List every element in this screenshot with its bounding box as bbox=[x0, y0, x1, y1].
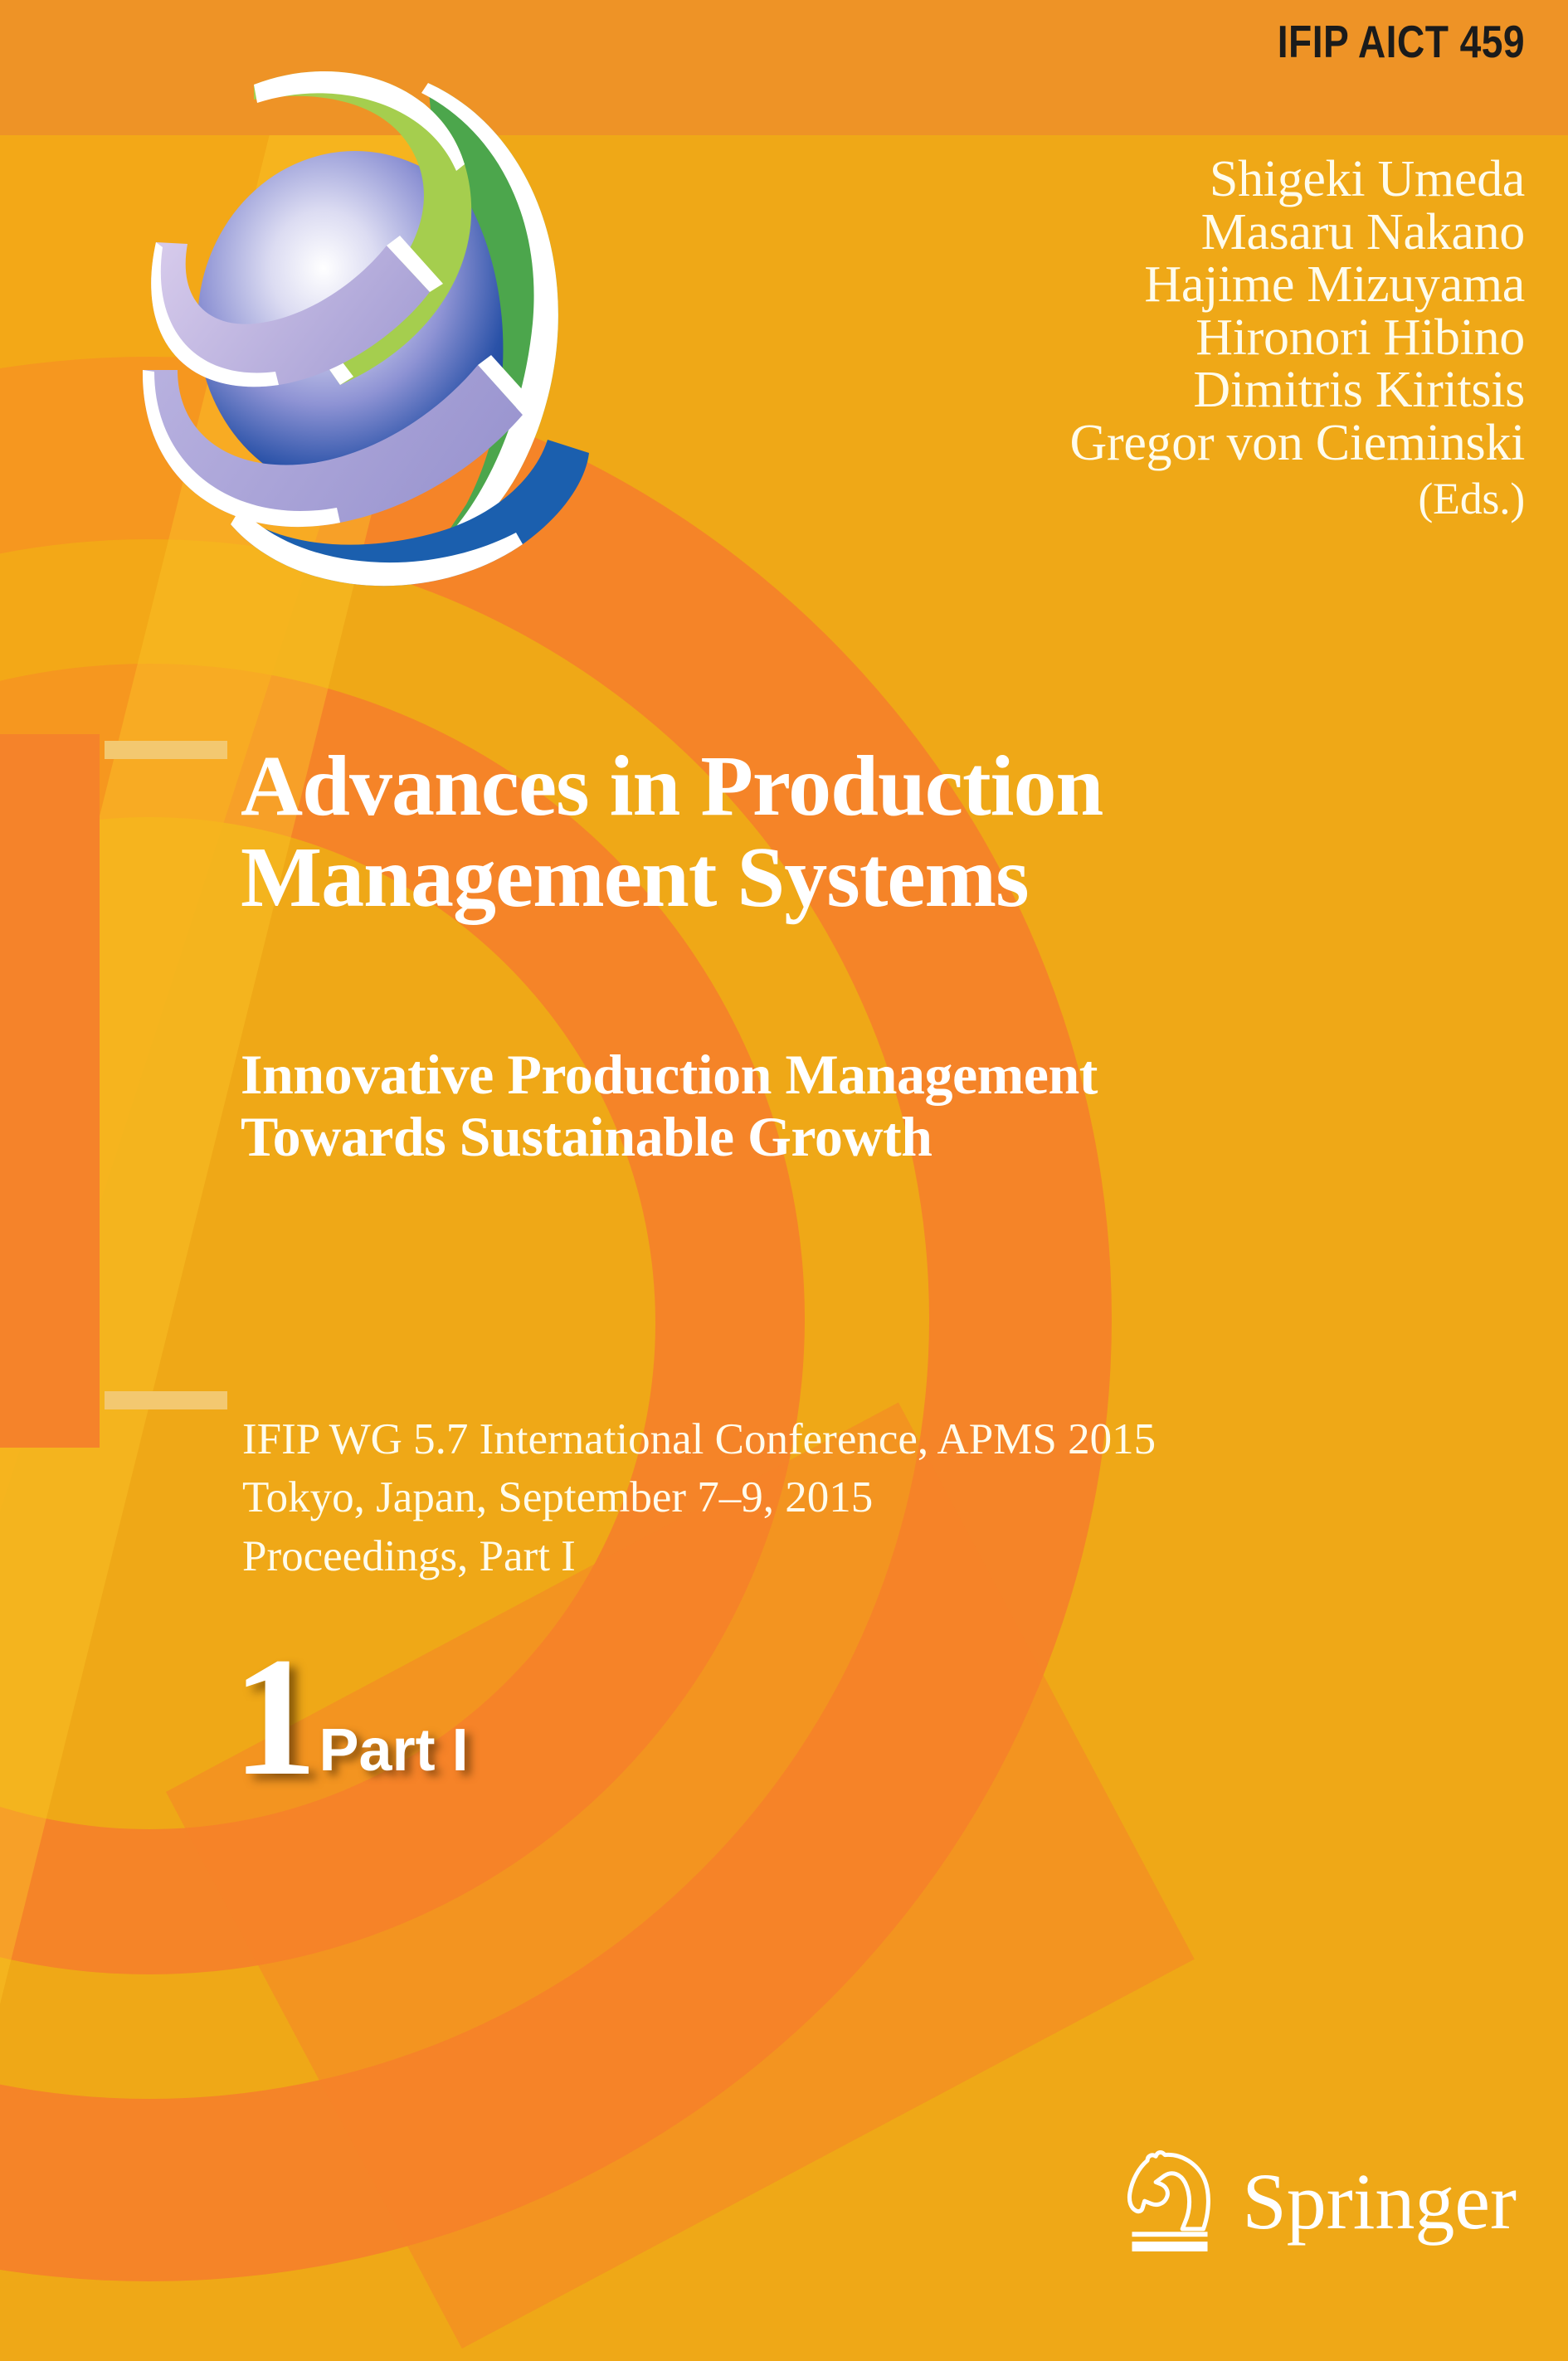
editor-name: Gregor von Cieminski bbox=[612, 417, 1525, 470]
volume-number: 1 bbox=[232, 1651, 318, 1784]
editor-name: Hironori Hibino bbox=[612, 312, 1525, 365]
conference-rule-mark bbox=[105, 1391, 227, 1409]
editor-name: Dimitris Kiritsis bbox=[612, 364, 1525, 417]
editor-name: Hajime Mizuyama bbox=[612, 259, 1525, 312]
editor-name: Masaru Nakano bbox=[612, 207, 1525, 260]
editors-role-tag: (Eds.) bbox=[612, 476, 1525, 522]
publisher-logo: Springer bbox=[1121, 2144, 1517, 2260]
title-line-1: Advances in Production bbox=[241, 741, 1502, 832]
book-title: Advances in Production Management System… bbox=[241, 741, 1502, 923]
editor-name: Shigeki Umeda bbox=[612, 153, 1525, 207]
conference-name-line: IFIP WG 5.7 International Conference, AP… bbox=[242, 1410, 1536, 1468]
book-cover: IFIP AICT 459 Shigeki Umeda Masaru Nakan… bbox=[0, 0, 1568, 2361]
springer-knight-icon bbox=[1121, 2144, 1219, 2260]
conference-location-date-line: Tokyo, Japan, September 7–9, 2015 bbox=[242, 1468, 1536, 1526]
series-label: IFIP AICT 459 bbox=[1278, 15, 1525, 68]
background-arc-outer bbox=[0, 357, 1112, 2281]
editors-list: Shigeki Umeda Masaru Nakano Hajime Mizuy… bbox=[612, 153, 1525, 523]
background-left-block bbox=[0, 734, 100, 1448]
title-rule-mark bbox=[105, 741, 227, 759]
springer-wordmark: Springer bbox=[1242, 2162, 1517, 2242]
ifip-globe-logo bbox=[91, 50, 589, 597]
volume-part-label: Part I bbox=[319, 1721, 469, 1784]
volume-badge: 1 Part I bbox=[232, 1651, 469, 1784]
book-subtitle: Innovative Production Management Towards… bbox=[241, 1044, 1535, 1168]
subtitle-line-1: Innovative Production Management bbox=[241, 1044, 1535, 1106]
title-line-2: Management Systems bbox=[241, 832, 1502, 923]
conference-proceedings-line: Proceedings, Part I bbox=[242, 1527, 1536, 1585]
conference-details: IFIP WG 5.7 International Conference, AP… bbox=[242, 1410, 1536, 1585]
subtitle-line-2: Towards Sustainable Growth bbox=[241, 1106, 1535, 1168]
